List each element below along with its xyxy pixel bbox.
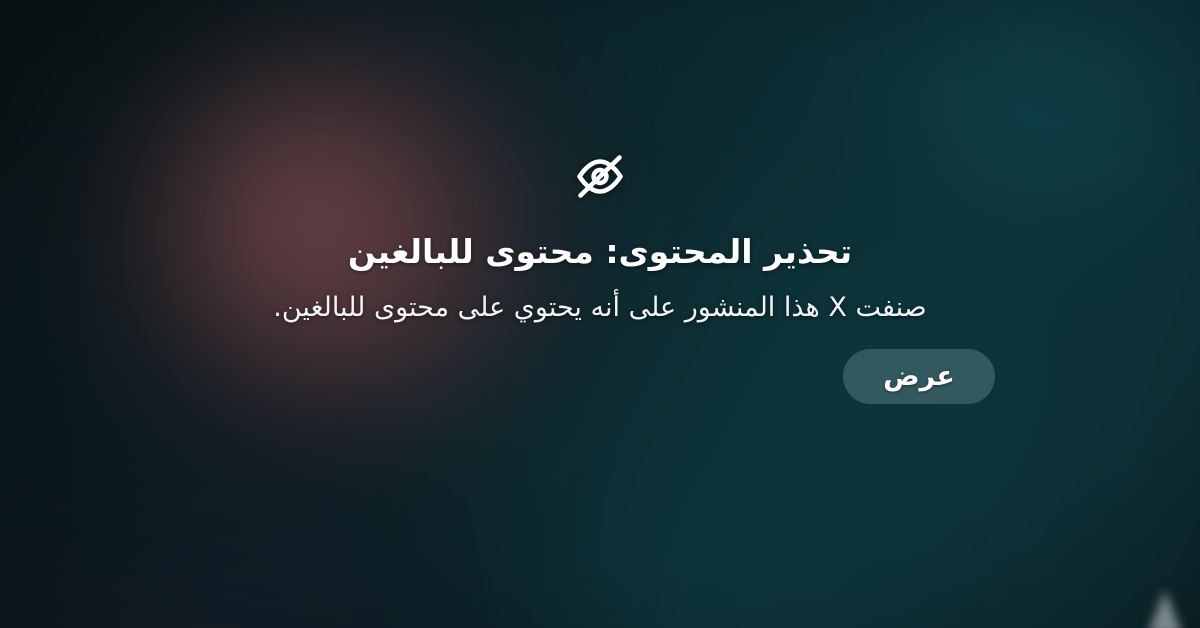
- eye-off-icon: [569, 150, 631, 202]
- content-warning-title: تحذير المحتوى: محتوى للبالغين: [348, 232, 852, 272]
- content-warning-description: صنفت X هذا المنشور على أنه يحتوي على محت…: [273, 290, 926, 325]
- view-button[interactable]: عرض: [843, 349, 995, 404]
- sensitive-content-screen: تحذير المحتوى: محتوى للبالغين صنفت X هذا…: [0, 0, 1200, 628]
- content-warning-panel: تحذير المحتوى: محتوى للبالغين صنفت X هذا…: [0, 0, 1200, 628]
- content-warning-actions: عرض: [205, 349, 995, 404]
